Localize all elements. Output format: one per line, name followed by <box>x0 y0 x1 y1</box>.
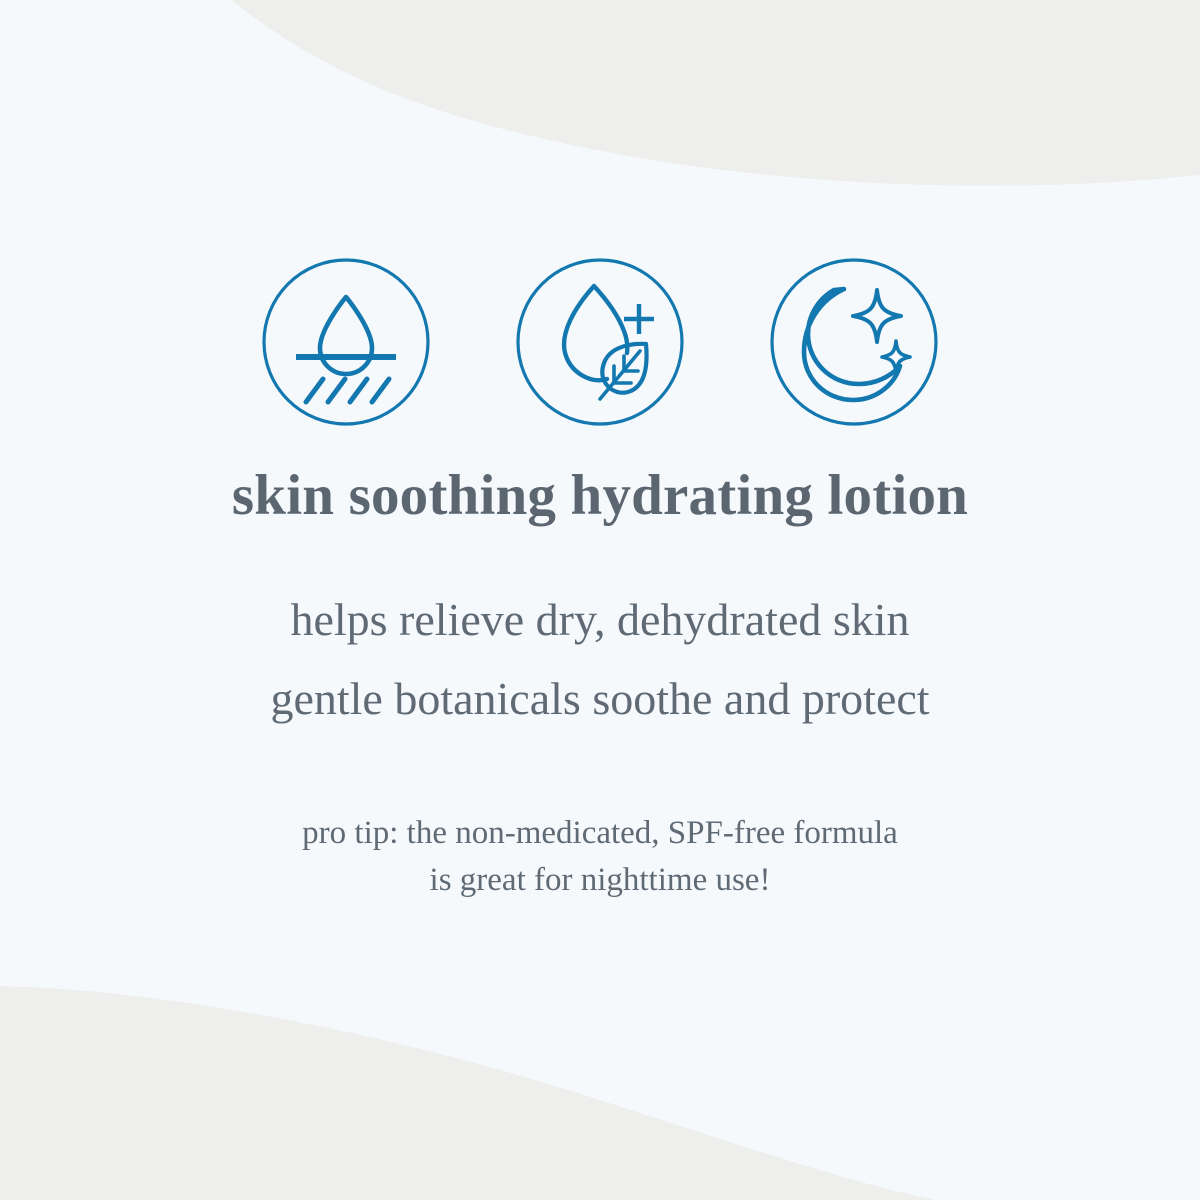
sparkle-large-icon <box>853 290 901 342</box>
water-drop-absorb-icon <box>260 256 432 428</box>
crescent-moon-shape <box>804 289 900 400</box>
list-item: gentle botanicals soothe and protect <box>0 659 1200 738</box>
sparkle-small-icon <box>882 341 910 373</box>
top-right-blob <box>232 0 1200 186</box>
droplet-outline <box>564 286 627 380</box>
bottom-left-blob <box>0 986 935 1200</box>
absorption-hatch-lines <box>306 379 389 402</box>
list-item: helps relieve dry, dehydrated skin <box>0 580 1200 659</box>
icon-circle-border <box>264 260 428 424</box>
moon-stars-icon <box>768 256 940 428</box>
product-benefits-card: skin soothing hydrating lotion helps rel… <box>0 0 1200 1200</box>
product-copy-block: skin soothing hydrating lotion helps rel… <box>0 466 1200 904</box>
drop-plus-leaf-icon <box>514 256 686 428</box>
pro-tip-line-1: pro tip: the non-medicated, SPF-free for… <box>0 810 1200 857</box>
pro-tip-line-2: is great for nighttime use! <box>0 857 1200 904</box>
benefit-list: helps relieve dry, dehydrated skin gentl… <box>0 580 1200 738</box>
feature-icon-row <box>0 254 1200 430</box>
plus-sign-icon <box>624 304 654 334</box>
pro-tip-text: pro tip: the non-medicated, SPF-free for… <box>0 810 1200 904</box>
droplet-shape <box>320 297 372 374</box>
page-title: skin soothing hydrating lotion <box>0 466 1200 526</box>
